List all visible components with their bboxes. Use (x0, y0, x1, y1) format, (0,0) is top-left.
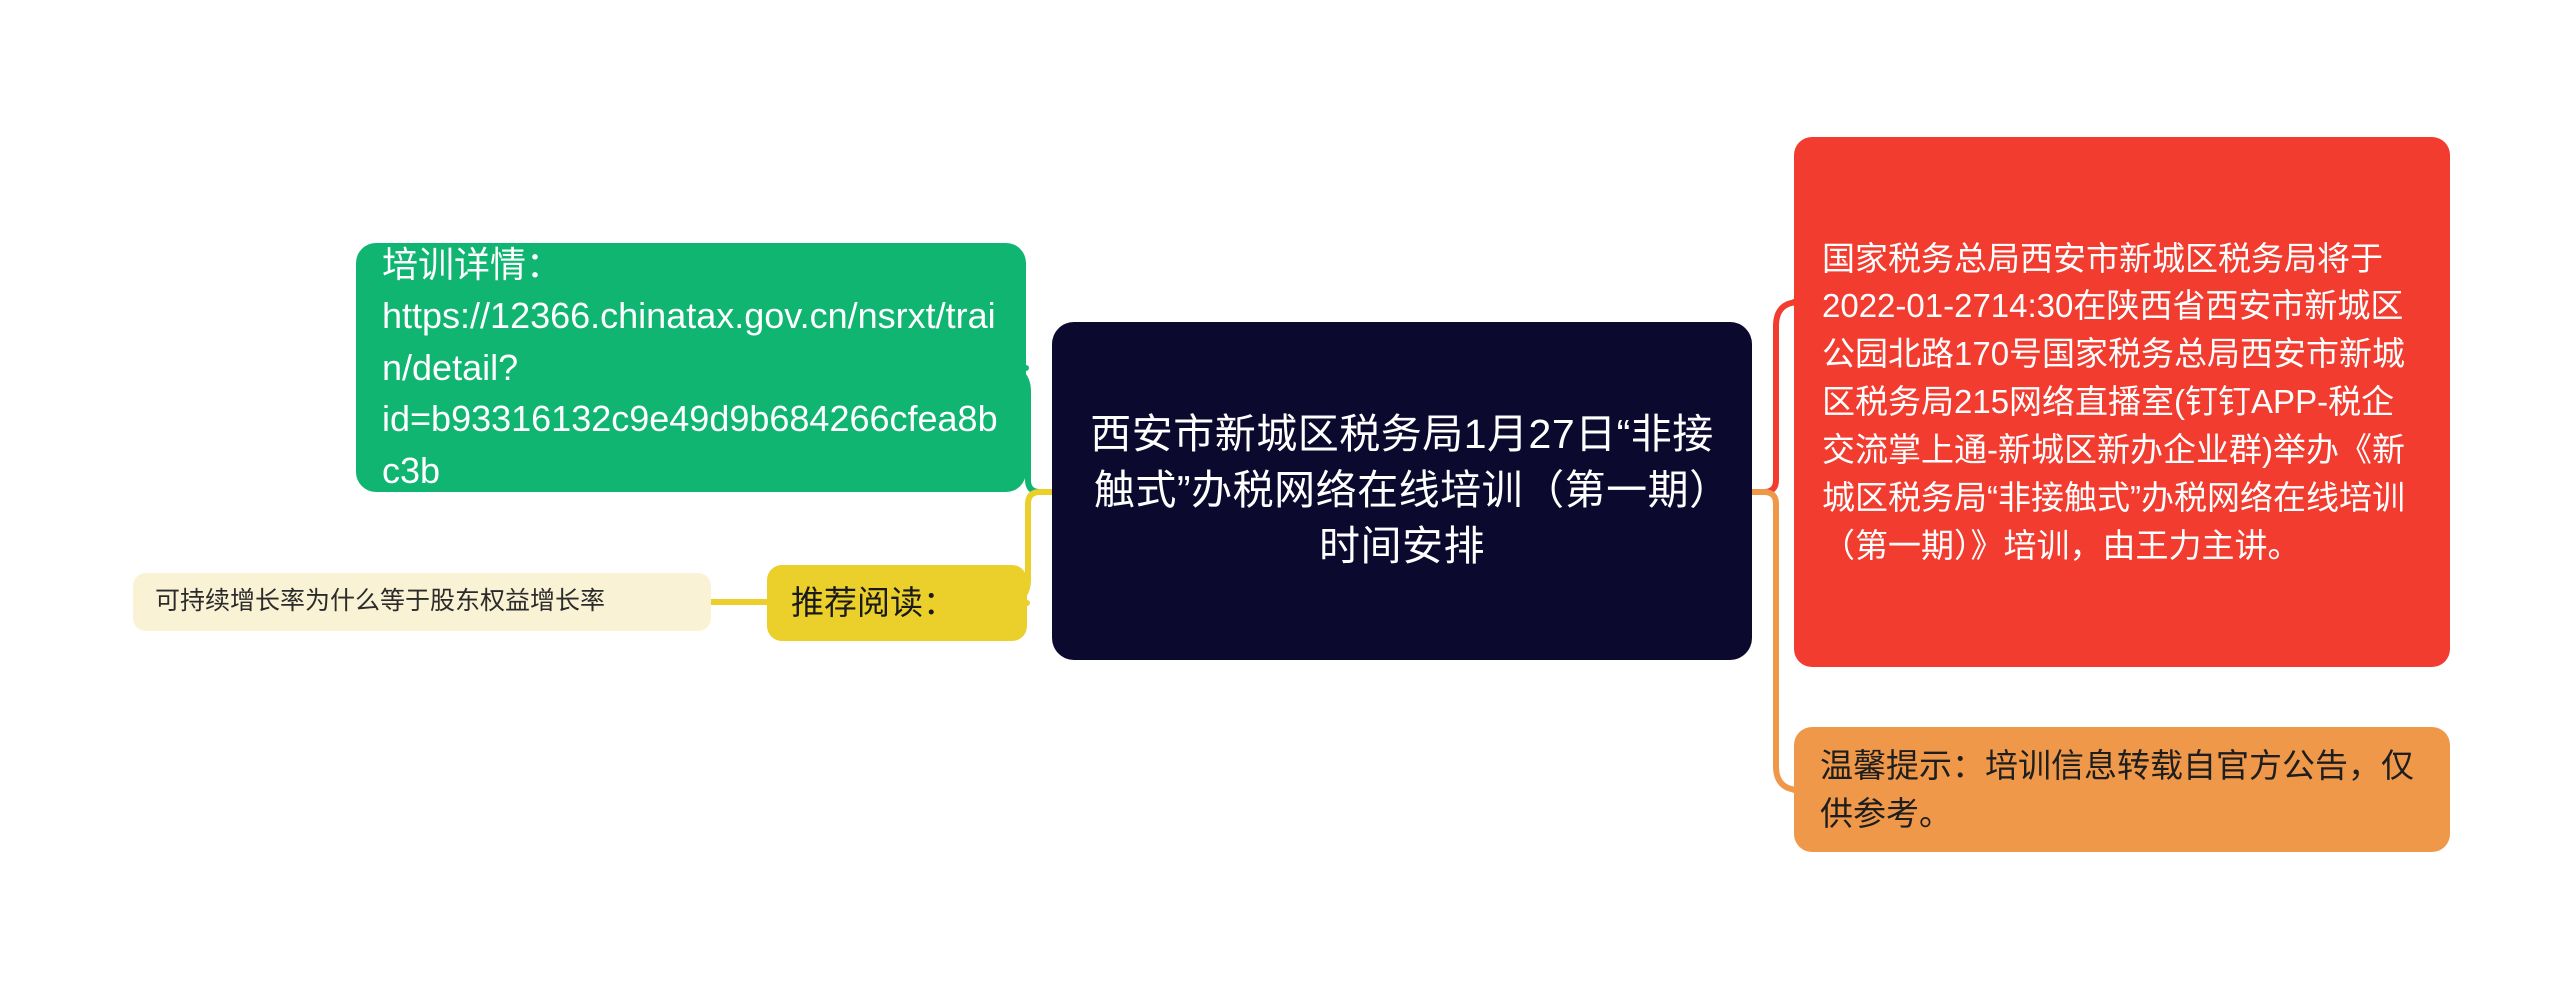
node-recommended-reading[interactable]: 推荐阅读： (767, 565, 1027, 641)
node-root-title-label: 西安市新城区税务局1月27日“非接触式”办税网络在线培训（第一期）时间安排 (1086, 407, 1718, 574)
connector-orange (1752, 492, 1800, 790)
node-training-link[interactable]: 培训详情：https://12366.chinatax.gov.cn/nsrxt… (356, 243, 1026, 492)
connector-red (1752, 302, 1800, 492)
node-announcement-label: 国家税务总局西安市新城区税务局将于2022-01-2714:30在陕西省西安市新… (1822, 235, 2422, 570)
node-tip-label: 温馨提示：培训信息转载自官方公告，仅供参考。 (1820, 742, 2424, 838)
node-training-link-label: 培训详情：https://12366.chinatax.gov.cn/nsrxt… (382, 239, 1000, 496)
node-root-title[interactable]: 西安市新城区税务局1月27日“非接触式”办税网络在线培训（第一期）时间安排 (1052, 322, 1752, 660)
node-recommended-reading-label: 推荐阅读： (791, 580, 1003, 627)
node-recommended-article[interactable]: 可持续增长率为什么等于股东权益增长率 (133, 573, 711, 631)
node-recommended-article-label: 可持续增长率为什么等于股东权益增长率 (155, 584, 689, 620)
node-announcement[interactable]: 国家税务总局西安市新城区税务局将于2022-01-2714:30在陕西省西安市新… (1794, 137, 2450, 667)
mindmap-canvas: 培训详情：https://12366.chinatax.gov.cn/nsrxt… (0, 0, 2560, 981)
node-tip[interactable]: 温馨提示：培训信息转载自官方公告，仅供参考。 (1794, 727, 2450, 852)
